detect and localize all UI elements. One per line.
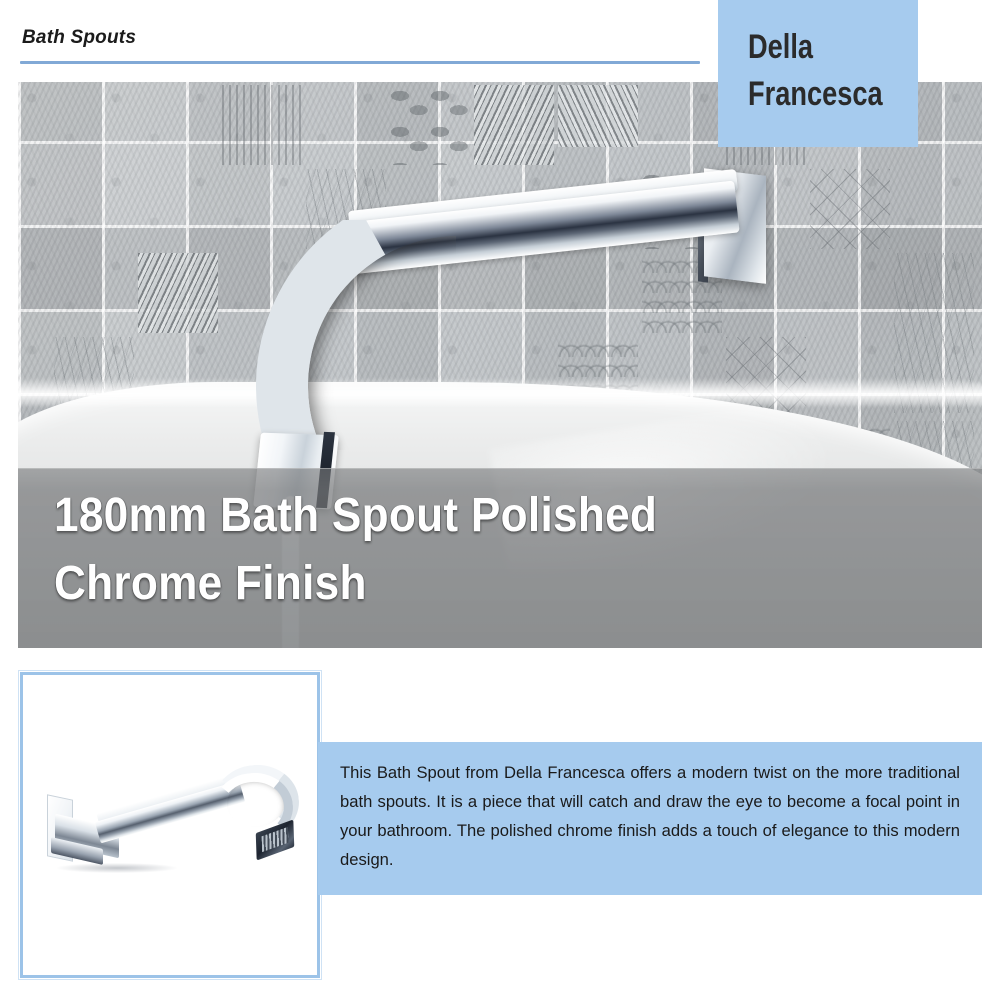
page-title: Bath Spouts [22, 27, 136, 49]
hero-headline: 180mm Bath Spout Polished Chrome Finish [54, 482, 845, 618]
hero-photo: 180mm Bath Spout Polished Chrome Finish [18, 82, 982, 648]
description-box: This Bath Spout from Della Francesca off… [318, 742, 982, 895]
title-divider [20, 61, 700, 64]
brand-logo-badge: Della Francesca [718, 0, 918, 147]
spout-curve [256, 220, 456, 450]
hero-headline-line-1: 180mm Bath Spout Polished [54, 482, 845, 550]
thumb-shadow [57, 863, 177, 873]
product-image-panel [20, 672, 320, 978]
hero-headline-line-2: Chrome Finish [54, 550, 845, 618]
brand-name-line-2: Francesca [748, 71, 884, 118]
brand-name-line-1: Della [748, 24, 884, 71]
product-spout-thumbnail [37, 759, 309, 899]
description-text: This Bath Spout from Della Francesca off… [340, 758, 960, 874]
hero-image: 180mm Bath Spout Polished Chrome Finish [18, 82, 982, 648]
